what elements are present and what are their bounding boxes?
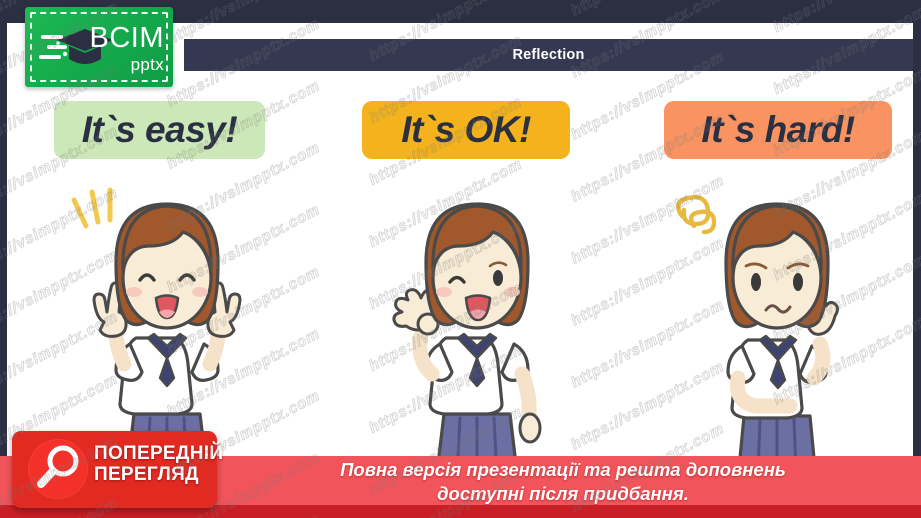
magnifier-icon [28, 439, 88, 499]
slide-preview-window: It`s easy! It`s OK! It`s hard! [0, 0, 921, 518]
option-box-easy[interactable]: It`s easy! [54, 101, 265, 159]
brand-logo[interactable]: BCIM pptx [25, 7, 173, 87]
option-label-ok: It`s OK! [401, 109, 531, 151]
purchase-notice-text: Повна версія презентації та решта доповн… [215, 458, 911, 505]
preview-badge-line1: ПОПЕРЕДНІЙ [94, 443, 211, 464]
page-title: Reflection [512, 47, 584, 63]
logo-sub-text: pptx [90, 56, 165, 73]
preview-badge-line2: ПЕРЕГЛЯД [94, 464, 211, 485]
option-label-easy: It`s easy! [82, 109, 237, 151]
logo-wordmark: BCIM pptx [90, 24, 165, 73]
option-box-hard[interactable]: It`s hard! [664, 101, 892, 159]
slide-title-banner: Reflection [184, 39, 913, 71]
purchase-notice-line1: Повна версія презентації та решта доповн… [215, 458, 911, 482]
preview-badge[interactable]: ПОПЕРЕДНІЙ ПЕРЕГЛЯД [12, 431, 217, 508]
logo-brand-text: BCIM [90, 24, 165, 53]
option-label-hard: It`s hard! [701, 109, 854, 151]
preview-badge-text: ПОПЕРЕДНІЙ ПЕРЕГЛЯД [94, 443, 211, 486]
purchase-notice-line2: доступні після придбання. [215, 482, 911, 506]
option-box-ok[interactable]: It`s OK! [362, 101, 570, 159]
